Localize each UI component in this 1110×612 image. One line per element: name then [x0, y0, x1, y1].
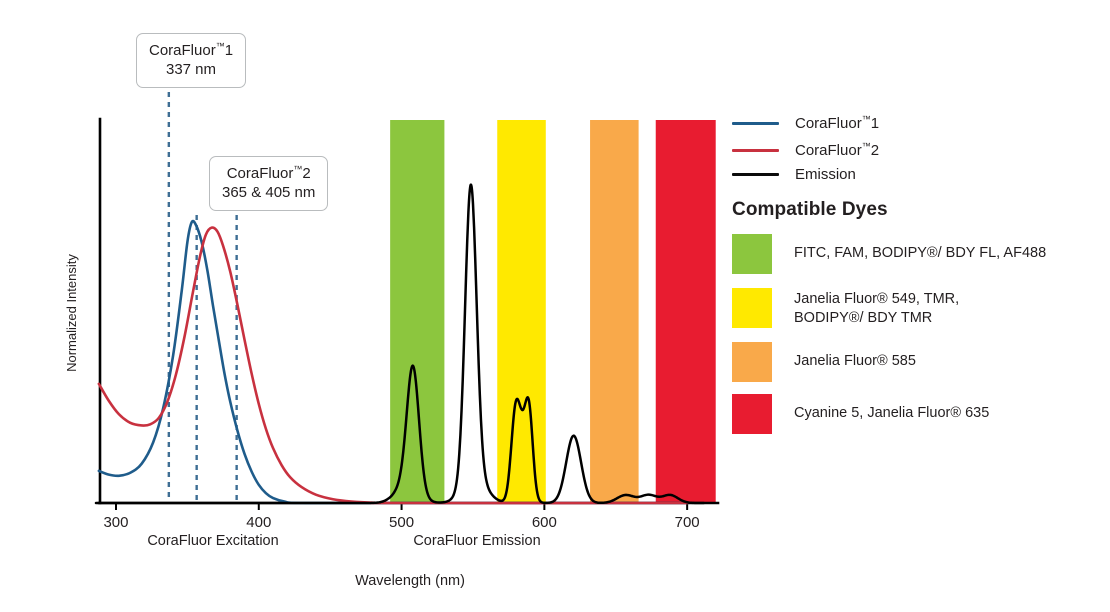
legend-label-corafluor2: CoraFluor™2	[795, 141, 879, 159]
dye-item-green: FITC, FAM, BODIPY®/ BDY FL, AF488	[732, 234, 1046, 274]
legend-item-corafluor2: CoraFluor™2	[732, 141, 879, 159]
trademark-icon: ™	[862, 141, 871, 151]
emission-band-red	[656, 120, 716, 503]
legend-label-emission: Emission	[795, 166, 856, 183]
dye-swatch-orange	[732, 342, 772, 382]
figure-root: 300400500600700CoraFluor ExcitationCoraF…	[0, 0, 1110, 612]
trademark-icon: ™	[216, 41, 225, 51]
emission-caption: CoraFluor Emission	[413, 533, 540, 549]
dye-swatch-green	[732, 234, 772, 274]
dye-line: BODIPY®/ BDY TMR	[794, 310, 932, 326]
legend-text: CoraFluor	[795, 142, 862, 159]
callout-corafluor1-value: 337 nm	[149, 60, 233, 79]
x-tick-label-600: 600	[532, 514, 557, 531]
excitation-caption: CoraFluor Excitation	[147, 533, 278, 549]
callout-corafluor2-name: CoraFluor	[227, 165, 294, 182]
dye-item-yellow: Janelia Fluor® 549, TMR, BODIPY®/ BDY TM…	[732, 288, 959, 328]
callout-corafluor1-title: CoraFluor™1	[149, 41, 233, 60]
dye-line: Cyanine 5, Janelia Fluor® 635	[794, 405, 989, 421]
emission-band-green	[390, 120, 444, 503]
dye-swatch-red	[732, 394, 772, 434]
y-axis-title: Normalized Intensity	[64, 254, 79, 372]
legend-swatch-corafluor2	[732, 149, 779, 152]
x-axis-title: Wavelength (nm)	[355, 573, 465, 589]
legend-swatch-corafluor1	[732, 122, 779, 125]
trademark-icon: ™	[862, 114, 871, 124]
legend-label-corafluor1: CoraFluor™1	[795, 114, 879, 132]
callout-corafluor1: CoraFluor™1 337 nm	[136, 33, 246, 88]
emission-band-yellow	[497, 120, 546, 503]
legend-text: CoraFluor	[795, 115, 862, 132]
legend-item-corafluor1: CoraFluor™1	[732, 114, 879, 132]
dye-label-yellow: Janelia Fluor® 549, TMR, BODIPY®/ BDY TM…	[794, 288, 959, 328]
dye-item-orange: Janelia Fluor® 585	[732, 342, 916, 382]
x-tick-label-700: 700	[675, 514, 700, 531]
x-tick-label-300: 300	[103, 514, 128, 531]
callout-corafluor1-name: CoraFluor	[149, 42, 216, 59]
legend-index: 2	[871, 142, 879, 159]
legend-swatch-emission	[732, 173, 779, 176]
legend-item-emission: Emission	[732, 165, 856, 183]
dye-label-orange: Janelia Fluor® 585	[794, 342, 916, 371]
x-tick-label-500: 500	[389, 514, 414, 531]
callout-corafluor2-index: 2	[302, 165, 310, 182]
dye-line: Janelia Fluor® 549, TMR,	[794, 291, 959, 307]
spectra-chart: 300400500600700CoraFluor ExcitationCoraF…	[0, 0, 730, 612]
legend-index: 1	[871, 115, 879, 132]
callout-corafluor2: CoraFluor™2 365 & 405 nm	[209, 156, 328, 211]
callout-corafluor2-title: CoraFluor™2	[222, 164, 315, 183]
callout-corafluor1-index: 1	[225, 42, 233, 59]
dye-label-green: FITC, FAM, BODIPY®/ BDY FL, AF488	[794, 234, 1046, 263]
dye-swatch-yellow	[732, 288, 772, 328]
emission-band-orange	[590, 120, 639, 503]
dye-line: Janelia Fluor® 585	[794, 353, 916, 369]
callout-corafluor2-value: 365 & 405 nm	[222, 183, 315, 202]
dye-label-red: Cyanine 5, Janelia Fluor® 635	[794, 394, 989, 423]
legend-panel: CoraFluor™1 CoraFluor™2 Emission Compati…	[728, 0, 1110, 612]
chart-canvas: 300400500600700CoraFluor ExcitationCoraF…	[0, 0, 730, 612]
x-tick-label-400: 400	[246, 514, 271, 531]
compatible-dyes-heading: Compatible Dyes	[732, 199, 888, 221]
legend-text: Emission	[795, 166, 856, 183]
dye-item-red: Cyanine 5, Janelia Fluor® 635	[732, 394, 989, 434]
dye-line: FITC, FAM, BODIPY®/ BDY FL, AF488	[794, 245, 1046, 261]
